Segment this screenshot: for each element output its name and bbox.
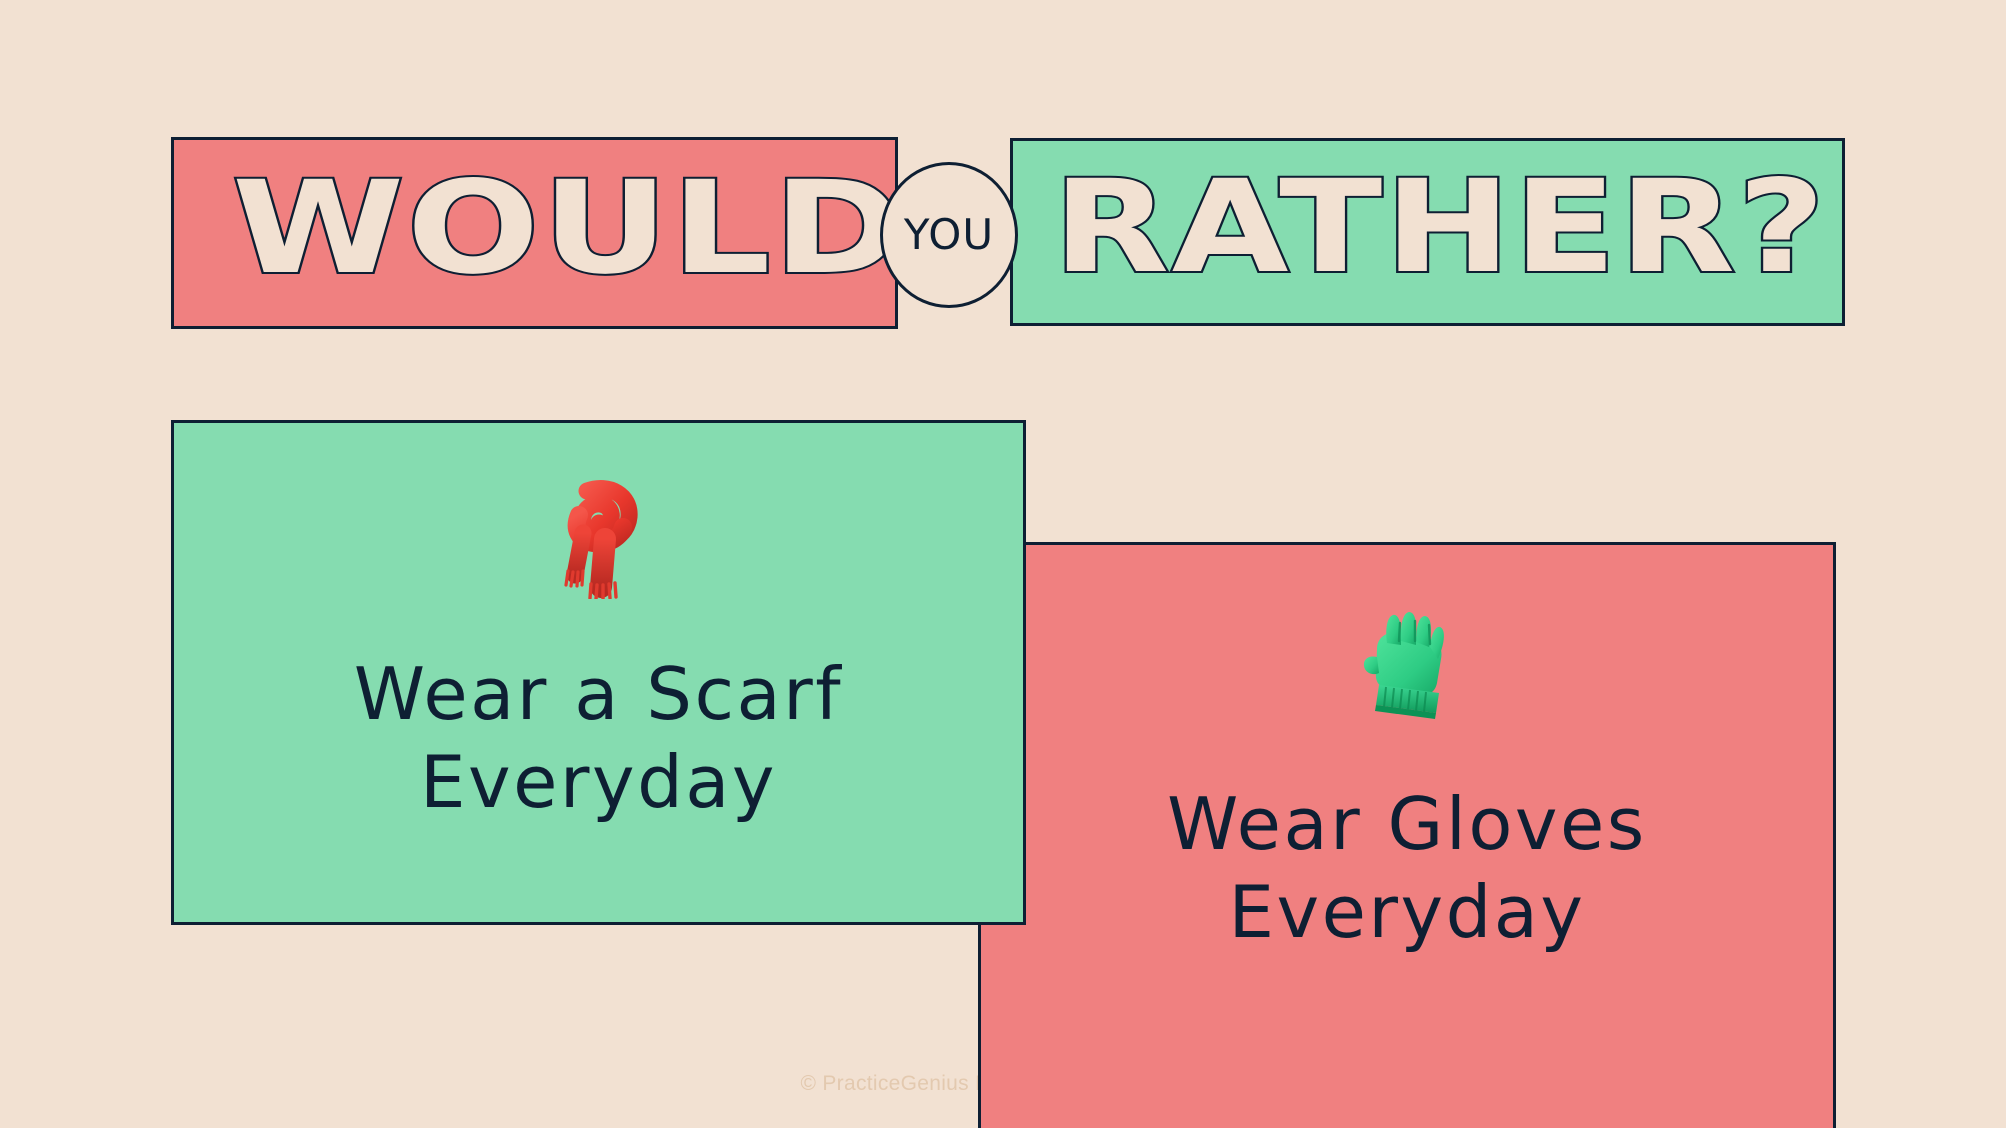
header-badge-label: YOU [904, 214, 994, 256]
header-you-badge: YOU [880, 162, 1018, 308]
scarf-icon [535, 471, 663, 599]
gloves-icon [1343, 597, 1471, 725]
header-left-banner: WOULD [171, 137, 898, 329]
option-card-scarf[interactable]: Wear a Scarf Everyday [171, 420, 1026, 925]
option-card-scarf-label: Wear a Scarf Everyday [174, 651, 1023, 827]
option-card-gloves[interactable]: Wear Gloves Everyday [978, 542, 1836, 1128]
header-banner: WOULD RATHER? YOU [0, 0, 2006, 340]
header-word-would: WOULD [232, 165, 905, 293]
option-card-gloves-label: Wear Gloves Everyday [981, 781, 1833, 957]
header-word-rather: RATHER? [1053, 164, 1828, 292]
slide-canvas: WOULD RATHER? YOU [0, 0, 2006, 1128]
header-right-banner: RATHER? [1010, 138, 1845, 326]
